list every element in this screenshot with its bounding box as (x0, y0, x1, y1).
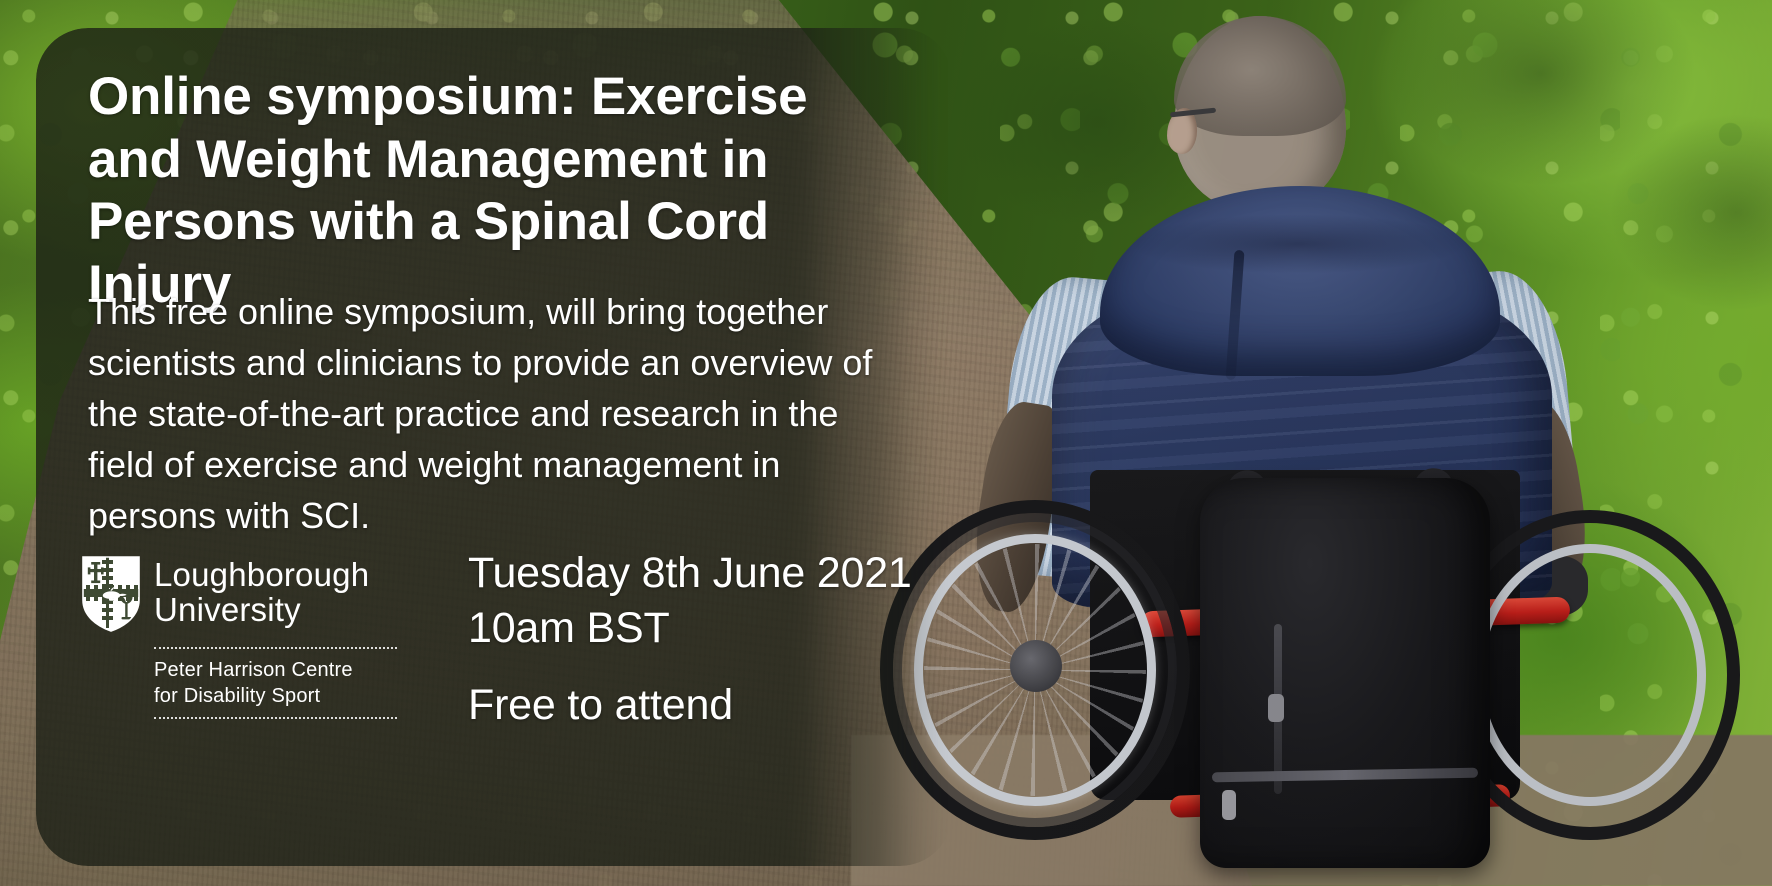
loughborough-university-logo: Loughborough University Peter Harrison C… (82, 556, 442, 719)
logo-wordmark-line-2: University (154, 593, 369, 628)
sub-brand-lockup: Peter Harrison Centre for Disability Spo… (154, 647, 397, 719)
wheelchair-hub-left (1010, 640, 1062, 692)
event-description: This free online symposium, will bring t… (88, 286, 878, 542)
sub-brand-line-2: for Disability Sport (154, 684, 397, 710)
logo-wordmark: Loughborough University (154, 556, 369, 628)
logo-primary-lockup: Loughborough University (82, 556, 442, 632)
black-backpack (1200, 478, 1490, 868)
wheelchair-handrim-right (1474, 544, 1706, 806)
loughborough-shield-crest-icon (82, 556, 140, 632)
sub-brand-line-1: Peter Harrison Centre (154, 658, 397, 684)
logo-wordmark-line-1: Loughborough (154, 558, 369, 593)
event-promo-banner: Online symposium: Exercise and Weight Ma… (0, 0, 1772, 886)
event-cost: Free to attend (468, 678, 938, 733)
event-details: Tuesday 8th June 2021 10am BST Free to a… (468, 546, 938, 733)
details-spacer (468, 656, 938, 678)
backpack-zip-pull-lower (1222, 790, 1236, 820)
event-title: Online symposium: Exercise and Weight Ma… (88, 66, 888, 316)
event-time: 10am BST (468, 601, 938, 656)
event-date: Tuesday 8th June 2021 (468, 546, 938, 601)
hood-shadow (1128, 214, 1468, 274)
hair (1174, 16, 1346, 136)
banner-content: Online symposium: Exercise and Weight Ma… (36, 28, 952, 866)
backpack-zip-pull-upper (1268, 694, 1284, 722)
